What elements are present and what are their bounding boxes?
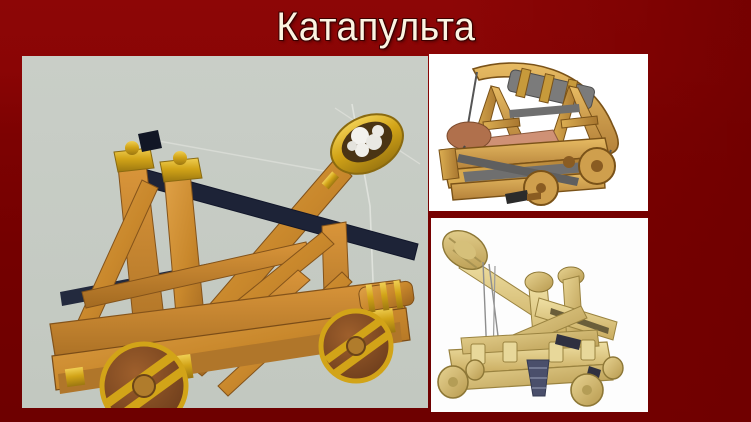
- title-container: Катапульта: [0, 0, 751, 54]
- illustration-catapult: [429, 54, 648, 211]
- model-catapult-photo: [431, 218, 648, 412]
- main-catapult-photo: [22, 56, 428, 408]
- slide-canvas: Катапульта: [0, 0, 751, 422]
- illustration-catapult-drawing: [429, 54, 648, 211]
- page-title: Катапульта: [276, 5, 475, 49]
- main-catapult-illustration: [22, 56, 428, 408]
- model-catapult-illustration: [431, 218, 648, 412]
